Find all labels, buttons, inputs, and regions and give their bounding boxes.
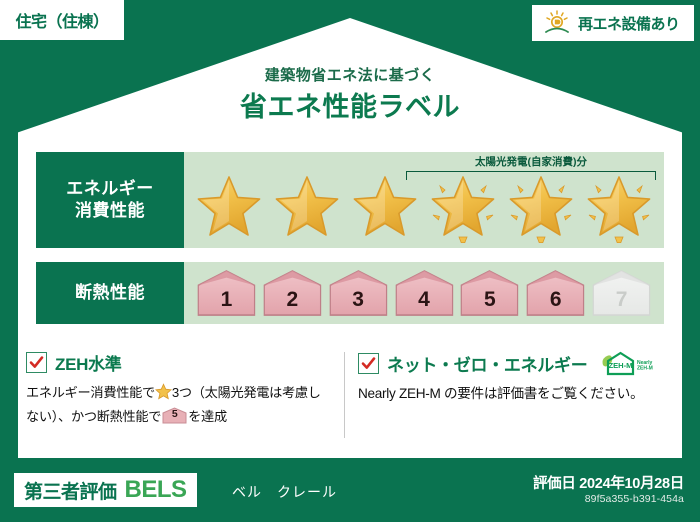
insulation-level-scale: 1 2 [184, 262, 664, 324]
zeh-standard-block: ZEH水準 エネルギー消費性能で 3つ（太陽光発電は考慮しない）、かつ断熱性能で… [26, 350, 326, 428]
building-type-tab: 住宅（住棟） [0, 0, 124, 40]
energy-star [193, 173, 265, 243]
net-zero-header: ネット・ゼロ・エネルギー ZEH-M Nearly ZEH-M [358, 350, 664, 376]
zeh-body-part1: エネルギー消費性能で [26, 385, 155, 400]
net-zero-body: Nearly ZEH-M の要件は評価書をご覧ください。 [358, 383, 664, 405]
energy-label-line2: 消費性能 [75, 200, 145, 222]
info-divider [344, 352, 345, 438]
zeh-standard-title: ZEH水準 [55, 350, 122, 375]
insulation-level-value: 3 [352, 288, 364, 317]
insulation-level-5: 5 [459, 269, 520, 317]
evaluation-id: 89f5a355-b391-454a [585, 493, 684, 505]
renewable-equipment-badge: 再エネ設備あり [532, 5, 694, 41]
insulation-level-6: 6 [525, 269, 586, 317]
renewable-equipment-label: 再エネ設備あり [578, 13, 680, 34]
net-zero-checkbox-icon [358, 353, 379, 374]
zeh-m-logo-text: ZEH-M [609, 361, 633, 370]
insulation-level-value: 4 [418, 288, 430, 317]
building-type-label: 住宅（住棟） [15, 8, 108, 32]
inline-insulation-house-value: 5 [162, 407, 187, 424]
insulation-level-2: 2 [262, 269, 323, 317]
solar-generation-note: 太陽光発電(自家消費)分 [404, 154, 658, 169]
label-footer: 第三者評価 BELS ベル クレール 評価日 2024年10月28日 89f5a… [0, 464, 700, 522]
sun-renewable-icon [543, 10, 571, 36]
energy-star [271, 173, 343, 243]
energy-performance-label-box: エネルギー 消費性能 [36, 152, 184, 248]
insulation-performance-row: 断熱性能 1 [36, 262, 664, 324]
insulation-level-value: 1 [221, 288, 233, 317]
energy-performance-label: 住宅（住棟） 再エネ設備あり 建築物省エネ法に基づく 省エネ性能ラベル [0, 0, 700, 522]
zeh-standard-header: ZEH水準 [26, 350, 326, 375]
insulation-level-7: 7 [591, 269, 652, 317]
inline-insulation-house-icon: 5 [162, 407, 187, 424]
inline-star-icon [155, 383, 172, 406]
label-title: 省エネ性能ラベル [0, 85, 700, 124]
energy-star [349, 173, 421, 243]
insulation-level-4: 4 [394, 269, 455, 317]
insulation-label: 断熱性能 [75, 282, 145, 304]
building-name: ベル クレール [232, 482, 337, 502]
zeh-body-part3: を達成 [188, 409, 227, 424]
bels-certification-box: 第三者評価 BELS [14, 473, 197, 507]
label-subtitle: 建築物省エネ法に基づく [0, 64, 700, 85]
insulation-level-value: 6 [550, 288, 562, 317]
bels-en-label: BELS [125, 476, 187, 504]
insulation-level-value: 7 [616, 288, 628, 317]
zeh-m-logo-sub2: ZEH-M [637, 366, 653, 372]
energy-rating-area: 太陽光発電(自家消費)分 [184, 152, 664, 248]
energy-star [427, 173, 499, 243]
energy-star [505, 173, 577, 243]
zeh-standard-checkbox-icon [26, 352, 47, 373]
net-zero-title: ネット・ゼロ・エネルギー [387, 351, 587, 376]
insulation-level-value: 5 [484, 288, 496, 317]
zeh-standard-body: エネルギー消費性能で 3つ（太陽光発電は考慮しない）、かつ断熱性能で 5 を達成 [26, 382, 326, 428]
energy-star [583, 173, 655, 243]
insulation-rating-area: 1 2 [184, 262, 664, 324]
insulation-level-1: 1 [196, 269, 257, 317]
bels-jp-label: 第三者評価 [24, 477, 117, 504]
energy-star-rating [184, 170, 664, 246]
energy-label-line1: エネルギー [66, 178, 154, 200]
energy-performance-row: エネルギー 消費性能 太陽光発電(自家消費)分 [36, 152, 664, 248]
net-zero-energy-block: ネット・ゼロ・エネルギー ZEH-M Nearly ZEH-M Nearly Z… [358, 350, 664, 405]
insulation-level-value: 2 [286, 288, 298, 317]
evaluation-date: 評価日 2024年10月28日 [533, 472, 684, 493]
insulation-level-3: 3 [328, 269, 389, 317]
zeh-m-logo-icon: ZEH-M Nearly ZEH-M [599, 350, 655, 376]
insulation-label-box: 断熱性能 [36, 262, 184, 324]
